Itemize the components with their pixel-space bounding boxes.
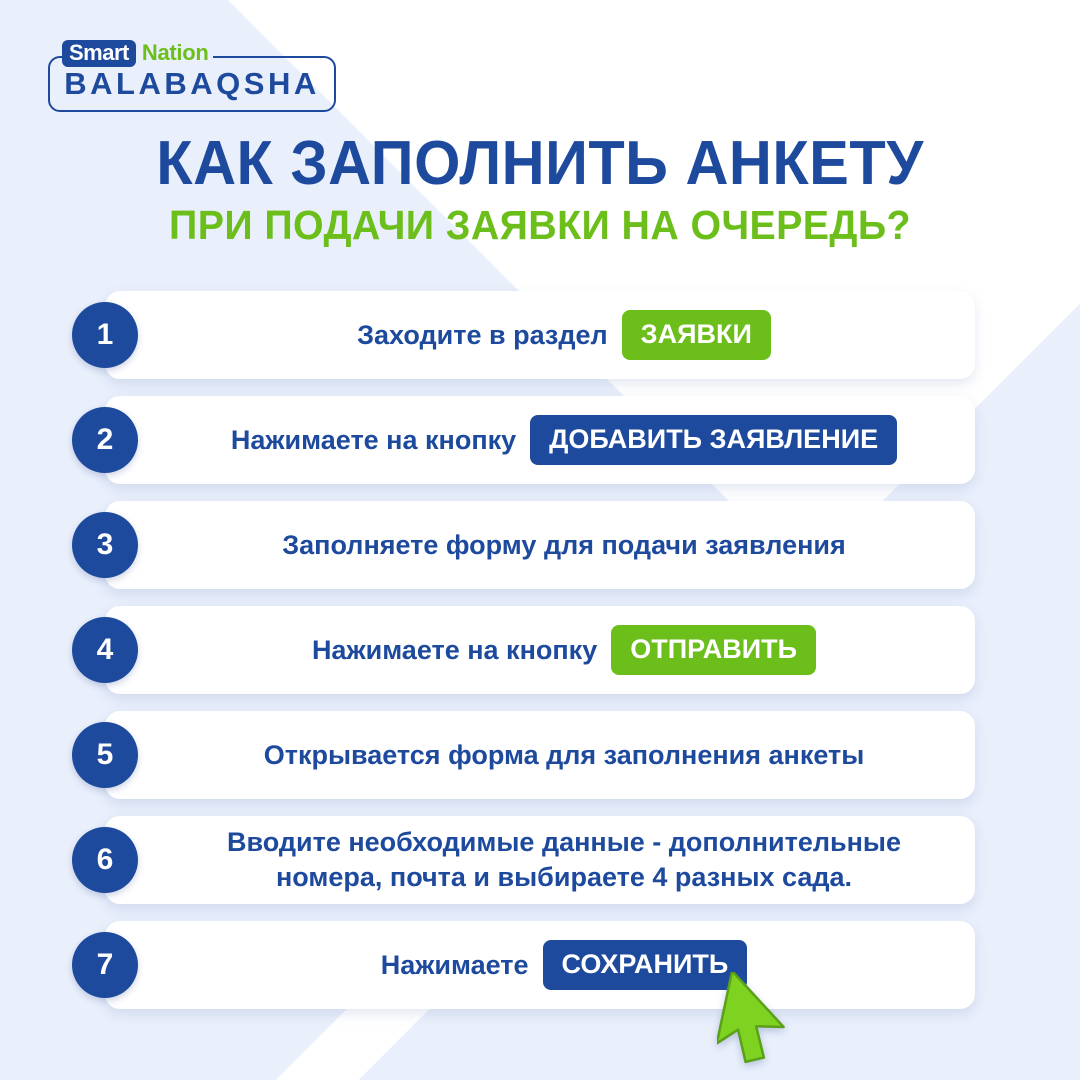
logo-smart-badge: Smart <box>62 40 136 67</box>
title-line-secondary: ПРИ ПОДАЧИ ЗАЯВКИ НА ОЧЕРЕДЬ? <box>22 203 1059 248</box>
step-description: Нажимаете на кнопку <box>231 425 516 456</box>
step-description: Заполняете форму для подачи заявления <box>282 530 846 561</box>
step-content: Нажимаете на кнопкуДОБАВИТЬ ЗАЯВЛЕНИЕ <box>231 415 897 465</box>
step-action-button[interactable]: ДОБАВИТЬ ЗАЯВЛЕНИЕ <box>530 415 897 465</box>
step-number-badge: 1 <box>72 302 138 368</box>
step-row: НажимаетеСОХРАНИТЬ7 <box>0 921 1080 1009</box>
steps-list: Заходите в разделЗАЯВКИ1Нажимаете на кно… <box>0 291 1080 1026</box>
step-number-badge: 4 <box>72 617 138 683</box>
step-description: Вводите необходимые данные - дополнитель… <box>175 825 953 894</box>
step-row: Вводите необходимые данные - дополнитель… <box>0 816 1080 904</box>
step-card: Заполняете форму для подачи заявления <box>105 501 975 589</box>
step-description: Заходите в раздел <box>357 320 608 351</box>
step-description: Открывается форма для заполнения анкеты <box>264 740 865 771</box>
step-number-badge: 2 <box>72 407 138 473</box>
step-content: Заполняете форму для подачи заявления <box>282 530 846 561</box>
step-row: Открывается форма для заполнения анкеты5 <box>0 711 1080 799</box>
step-card: Нажимаете на кнопкуОТПРАВИТЬ <box>105 606 975 694</box>
step-content: НажимаетеСОХРАНИТЬ <box>381 940 748 990</box>
step-card: НажимаетеСОХРАНИТЬ <box>105 921 975 1009</box>
title-line-primary: КАК ЗАПОЛНИТЬ АНКЕТУ <box>22 132 1059 195</box>
step-card: Открывается форма для заполнения анкеты <box>105 711 975 799</box>
logo-smart-nation: Smart Nation <box>62 38 213 68</box>
step-content: Заходите в разделЗАЯВКИ <box>357 310 771 360</box>
step-row: Нажимаете на кнопкуОТПРАВИТЬ4 <box>0 606 1080 694</box>
step-row: Заходите в разделЗАЯВКИ1 <box>0 291 1080 379</box>
step-description: Нажимаете на кнопку <box>312 635 597 666</box>
arrow-cursor-icon <box>717 972 797 1067</box>
step-description: Нажимаете <box>381 950 529 981</box>
step-card: Заходите в разделЗАЯВКИ <box>105 291 975 379</box>
step-number-badge: 6 <box>72 827 138 893</box>
step-number-badge: 7 <box>72 932 138 998</box>
step-number-badge: 5 <box>72 722 138 788</box>
step-card: Нажимаете на кнопкуДОБАВИТЬ ЗАЯВЛЕНИЕ <box>105 396 975 484</box>
step-action-button[interactable]: ЗАЯВКИ <box>622 310 771 360</box>
step-action-button[interactable]: ОТПРАВИТЬ <box>611 625 816 675</box>
logo-nation-text: Nation <box>142 42 209 64</box>
step-content: Открывается форма для заполнения анкеты <box>264 740 865 771</box>
step-number-badge: 3 <box>72 512 138 578</box>
page-title: КАК ЗАПОЛНИТЬ АНКЕТУ ПРИ ПОДАЧИ ЗАЯВКИ Н… <box>0 132 1080 248</box>
infographic-poster: BALABAQSHA Smart Nation КАК ЗАПОЛНИТЬ АН… <box>0 0 1080 1080</box>
step-row: Заполняете форму для подачи заявления3 <box>0 501 1080 589</box>
step-card: Вводите необходимые данные - дополнитель… <box>105 816 975 904</box>
step-content: Нажимаете на кнопкуОТПРАВИТЬ <box>312 625 816 675</box>
step-row: Нажимаете на кнопкуДОБАВИТЬ ЗАЯВЛЕНИЕ2 <box>0 396 1080 484</box>
step-content: Вводите необходимые данные - дополнитель… <box>175 825 953 894</box>
brand-logo: BALABAQSHA Smart Nation <box>48 38 348 118</box>
